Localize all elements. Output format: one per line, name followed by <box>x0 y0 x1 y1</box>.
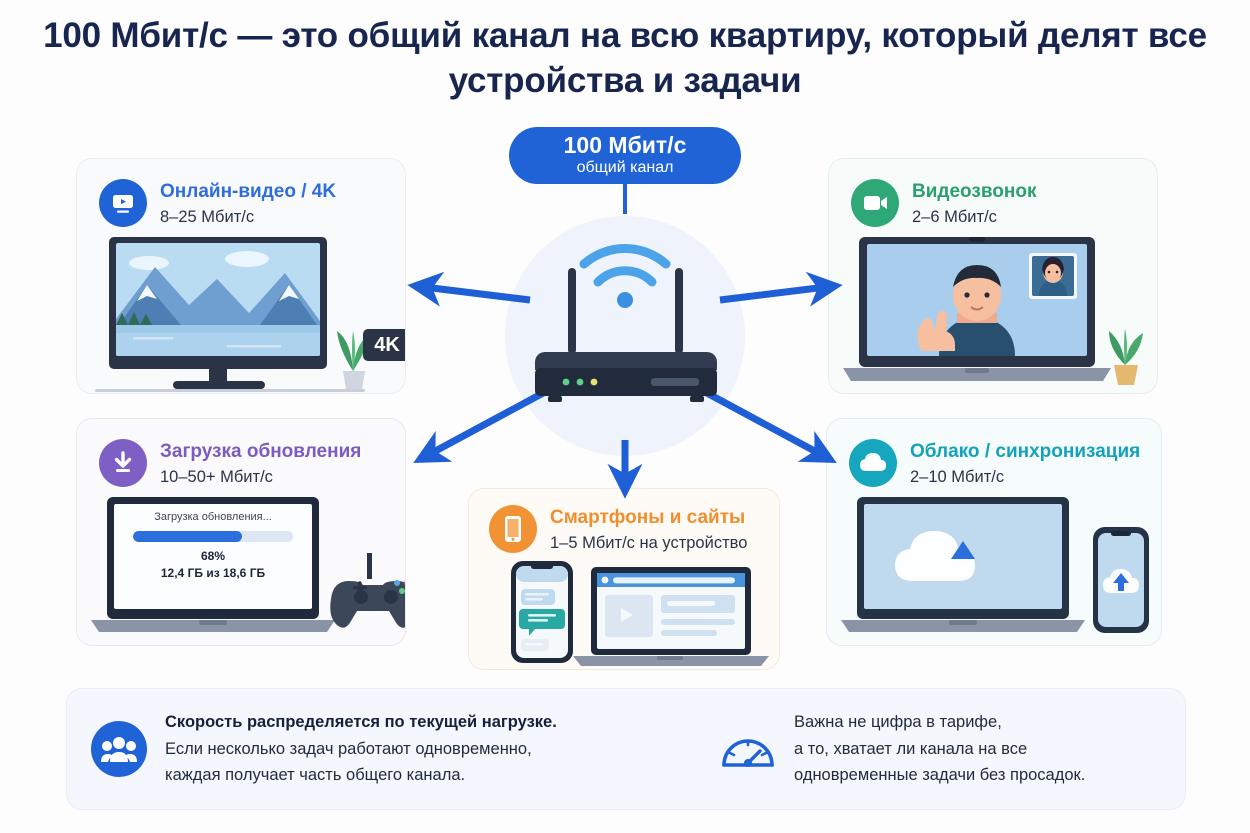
card-header: Облако / синхронизация 2–10 Мбит/с <box>849 439 1140 487</box>
footer-right-text: Важна не цифра в тарифе, а то, хватает л… <box>794 709 1085 789</box>
progress-bar-fill <box>133 531 242 542</box>
footer-left-line3: каждая получает часть общего канала. <box>165 762 557 789</box>
plant-icon <box>1109 329 1143 385</box>
cloud-icon <box>849 439 897 487</box>
card-title: Облако / синхронизация <box>910 441 1140 463</box>
card-header: Онлайн-видео / 4K 8–25 Мбит/с <box>99 179 336 227</box>
card-title: Смартфоны и сайты <box>550 507 747 529</box>
footer-right-line1: Важна не цифра в тарифе, <box>794 709 1085 736</box>
download-arrow-icon <box>99 439 147 487</box>
card-phones-sites[interactable]: Смартфоны и сайты 1–5 Мбит/с на устройст… <box>468 488 780 670</box>
footer-left-line1: Скорость распределяется по текущей нагру… <box>165 709 557 736</box>
footer-left-text: Скорость распределяется по текущей нагру… <box>165 709 557 789</box>
hub-glow-circle <box>505 216 745 456</box>
speedometer-icon <box>720 721 776 777</box>
smartphone-icon <box>489 505 537 553</box>
cloud-sync-illustration <box>827 493 1162 646</box>
progress-label: Загрузка обновления... <box>123 511 303 523</box>
hub-badge: 100 Мбит/с общий канал <box>509 127 741 184</box>
card-title: Видеозвонок <box>912 181 1036 203</box>
footer-right: Важна не цифра в тарифе, а то, хватает л… <box>692 709 1085 789</box>
card-header: Загрузка обновления 10–50+ Мбит/с <box>99 439 361 487</box>
card-speed: 10–50+ Мбит/с <box>160 468 361 487</box>
footer-left: Скорость распределяется по текущей нагру… <box>67 709 692 789</box>
progress-size: 12,4 ГБ из 18,6 ГБ <box>123 566 303 580</box>
card-video-call[interactable]: Видеозвонок 2–6 Мбит/с <box>828 158 1158 394</box>
card-title: Загрузка обновления <box>160 441 361 463</box>
card-online-video[interactable]: Онлайн-видео / 4K 8–25 Мбит/с <box>76 158 406 394</box>
phone-and-browser-illustration <box>469 557 780 670</box>
card-header: Смартфоны и сайты 1–5 Мбит/с на устройст… <box>489 505 747 553</box>
tv-illustration <box>77 233 406 394</box>
hub-connector <box>623 184 627 214</box>
page-title: 100 Мбит/с — это общий канал на всю квар… <box>0 14 1250 104</box>
card-speed: 8–25 Мбит/с <box>160 208 336 227</box>
footer-right-line3: одновременные задачи без просадок. <box>794 762 1085 789</box>
play-video-icon <box>99 179 147 227</box>
card-speed: 1–5 Мбит/с на устройство <box>550 534 747 553</box>
progress-percent: 68% <box>123 549 303 563</box>
card-header: Видеозвонок 2–6 Мбит/с <box>851 179 1036 227</box>
card-speed: 2–10 Мбит/с <box>910 468 1140 487</box>
footer-panel: Скорость распределяется по текущей нагру… <box>66 688 1186 810</box>
resolution-badge: 4K <box>363 329 406 361</box>
hub-caption: общий канал <box>577 158 674 177</box>
card-download[interactable]: Загрузка обновления 10–50+ Мбит/с <box>76 418 406 646</box>
progress-bar-track <box>133 531 293 542</box>
hub-value: 100 Мбит/с <box>564 133 687 157</box>
card-cloud-sync[interactable]: Облако / синхронизация 2–10 Мбит/с <box>826 418 1162 646</box>
gamepad-icon <box>330 553 406 628</box>
card-title: Онлайн-видео / 4K <box>160 181 336 203</box>
users-group-icon <box>91 721 147 777</box>
video-camera-icon <box>851 179 899 227</box>
footer-left-line2: Если несколько задач работают одновремен… <box>165 736 557 763</box>
footer-right-line2: а то, хватает ли канала на все <box>794 736 1085 763</box>
card-speed: 2–6 Мбит/с <box>912 208 1036 227</box>
video-call-illustration <box>829 235 1158 394</box>
infographic-canvas: 100 Мбит/с — это общий канал на всю квар… <box>0 0 1250 833</box>
download-progress: Загрузка обновления... 68% 12,4 ГБ из 18… <box>123 511 303 580</box>
